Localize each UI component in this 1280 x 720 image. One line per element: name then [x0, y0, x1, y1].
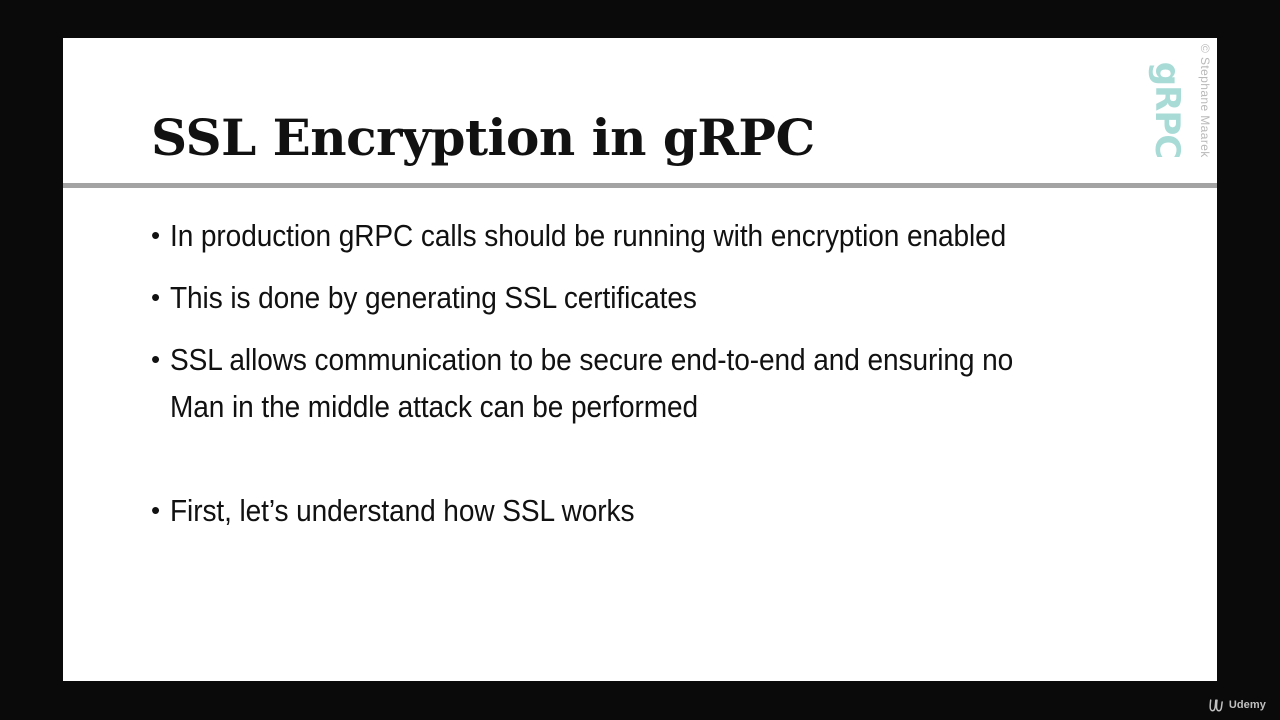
grpc-logo-text: gRPC — [1150, 62, 1184, 158]
presentation-slide: SSL Encryption in gRPC gRPC © Stephane M… — [63, 38, 1217, 681]
slide-header: SSL Encryption in gRPC gRPC © Stephane M… — [63, 38, 1217, 183]
udemy-watermark: Udemy — [1207, 697, 1266, 714]
bullet-text: SSL allows communication to be secure en… — [170, 336, 1063, 430]
bullet-item: • In production gRPC calls should be run… — [151, 212, 1157, 259]
bullet-dot-icon: • — [151, 274, 170, 321]
bullet-text: First, let’s understand how SSL works — [170, 487, 1063, 534]
page-title: SSL Encryption in gRPC — [151, 112, 815, 165]
bullet-text: In production gRPC calls should be runni… — [170, 212, 1063, 259]
bullet-item: • This is done by generating SSL certifi… — [151, 274, 1157, 321]
slide-body: • In production gRPC calls should be run… — [63, 188, 1217, 681]
bullet-dot-icon: • — [151, 336, 170, 383]
bullet-item: • First, let’s understand how SSL works — [151, 487, 1157, 534]
copyright-credit: © Stephane Maarek — [1191, 42, 1215, 182]
copyright-credit-text: © Stephane Maarek — [1199, 44, 1211, 158]
bullet-dot-icon: • — [151, 487, 170, 534]
udemy-logo-icon — [1207, 697, 1224, 714]
bullet-item: • SSL allows communication to be secure … — [151, 336, 1157, 430]
bullet-text: This is done by generating SSL certifica… — [170, 274, 1063, 321]
udemy-watermark-label: Udemy — [1229, 700, 1266, 711]
bullet-dot-icon: • — [151, 212, 170, 259]
grpc-logo: gRPC — [1149, 56, 1185, 164]
brand-strip: gRPC © Stephane Maarek — [1149, 38, 1217, 183]
video-player-stage: SSL Encryption in gRPC gRPC © Stephane M… — [0, 0, 1280, 720]
